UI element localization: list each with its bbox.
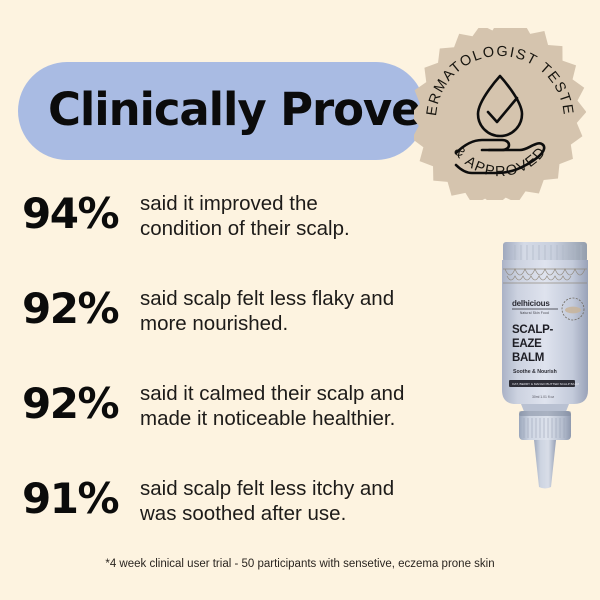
product-tube-image: delhicious Natural Skin Food SCALP- EAZE… [488,238,600,490]
stat-line-2: made it noticeable healthier. [140,407,395,430]
tube-name-line-1: SCALP- [512,324,553,336]
stat-line-1: said it calmed their scalp and [140,382,404,405]
tube-nozzle [534,440,556,489]
stat-line-1: said it improved the [140,192,318,215]
stat-line-2: condition of their scalp. [140,217,350,240]
stat-line-2: was soothed after use. [140,502,346,525]
tube-strip-text: OAT, BERRY & MANGO BUTTER SCALP BALM [512,382,579,386]
page-title: Clinically Proven [48,75,452,145]
stat-percent: 92% [22,376,140,432]
tube-name-line-2: EAZE [512,338,542,350]
dermatologist-badge: DERMATOLOGIST TESTED & APPROVED [414,28,586,200]
stat-percent: 91% [22,471,140,527]
tube-tagline: Soothe & Nourish [513,369,557,375]
tube-brand: delhicious [512,299,550,308]
stat-description: said it calmed their scalp and made it n… [140,376,404,431]
tube-size-text: 30ml 1.01 fl oz [532,395,554,399]
stat-description: said scalp felt less flaky and more nour… [140,281,394,336]
stat-percent: 92% [22,281,140,337]
tube-cap [519,411,571,440]
stat-line-2: more nourished. [140,312,288,335]
stat-line-1: said scalp felt less itchy and [140,477,394,500]
tube-crimp [503,242,587,262]
stat-description: said scalp felt less itchy and was sooth… [140,471,394,526]
stat-description: said it improved the condition of their … [140,186,350,241]
tube-name-line-3: BALM [512,352,544,364]
footnote-text: *4 week clinical user trial - 50 partici… [0,558,600,570]
stat-percent: 94% [22,186,140,242]
tube-brand-tagline: Natural Skin Food [520,311,549,315]
stat-line-1: said scalp felt less flaky and [140,287,394,310]
infographic-canvas: Clinically Proven DERMATOLOGIST TESTED &… [0,0,600,600]
